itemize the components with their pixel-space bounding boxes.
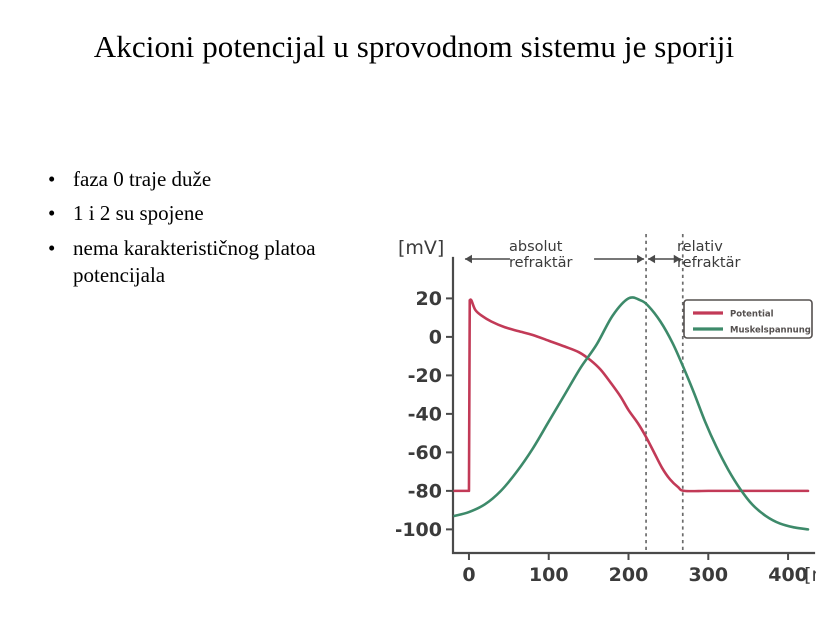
chart-svg: [mV] [ms] 200-20-40-60-80-100 0100200300… bbox=[396, 228, 816, 584]
refractory-marker-lines bbox=[646, 234, 683, 551]
x-tick-label: 100 bbox=[529, 564, 569, 584]
relativ-refraktaer-label-line2: refraktär bbox=[677, 255, 740, 271]
y-tick-label: -20 bbox=[408, 365, 442, 387]
bullet-icon: • bbox=[48, 200, 55, 227]
refractory-arrows bbox=[465, 255, 681, 263]
list-item-label: 1 i 2 su spojene bbox=[73, 201, 204, 225]
bullet-list: • faza 0 traje duže • 1 i 2 su spojene •… bbox=[40, 166, 370, 296]
y-axis-ticks: 200-20-40-60-80-100 bbox=[396, 288, 453, 541]
y-tick-label: 20 bbox=[416, 288, 442, 310]
list-item: • faza 0 traje duže bbox=[40, 166, 370, 193]
bullet-icon: • bbox=[48, 235, 55, 262]
absolut-refraktaer-label-line1: absolut bbox=[509, 239, 563, 255]
chart-legend: Potential Muskelspannung bbox=[684, 300, 812, 338]
x-tick-label: 400 bbox=[768, 564, 808, 584]
action-potential-chart: [mV] [ms] 200-20-40-60-80-100 0100200300… bbox=[396, 228, 816, 584]
y-tick-label: -100 bbox=[396, 519, 442, 541]
y-tick-label: -80 bbox=[408, 480, 442, 502]
y-axis-unit-label: [mV] bbox=[398, 237, 444, 259]
list-item-label: faza 0 traje duže bbox=[73, 167, 211, 191]
y-tick-label: 0 bbox=[429, 326, 442, 348]
legend-label-muskelspannung: Muskelspannung bbox=[730, 326, 811, 336]
x-axis-ticks: 0100200300400 bbox=[462, 553, 808, 584]
y-tick-label: -40 bbox=[408, 403, 442, 425]
relativ-refraktaer-label-line1: relativ bbox=[677, 239, 723, 255]
y-tick-label: -60 bbox=[408, 442, 442, 464]
list-item-label: nema karakterističnog platoa potencijala bbox=[73, 236, 316, 287]
list-item: • 1 i 2 su spojene bbox=[40, 200, 370, 227]
legend-label-potential: Potential bbox=[730, 310, 774, 320]
absolut-refraktaer-label-line2: refraktär bbox=[509, 255, 572, 271]
x-tick-label: 200 bbox=[609, 564, 649, 584]
list-item: • nema karakterističnog platoa potencija… bbox=[40, 235, 370, 290]
bullet-icon: • bbox=[48, 166, 55, 193]
x-tick-label: 0 bbox=[462, 564, 475, 584]
page-title: Akcioni potencijal u sprovodnom sistemu … bbox=[62, 27, 766, 67]
x-tick-label: 300 bbox=[688, 564, 728, 584]
